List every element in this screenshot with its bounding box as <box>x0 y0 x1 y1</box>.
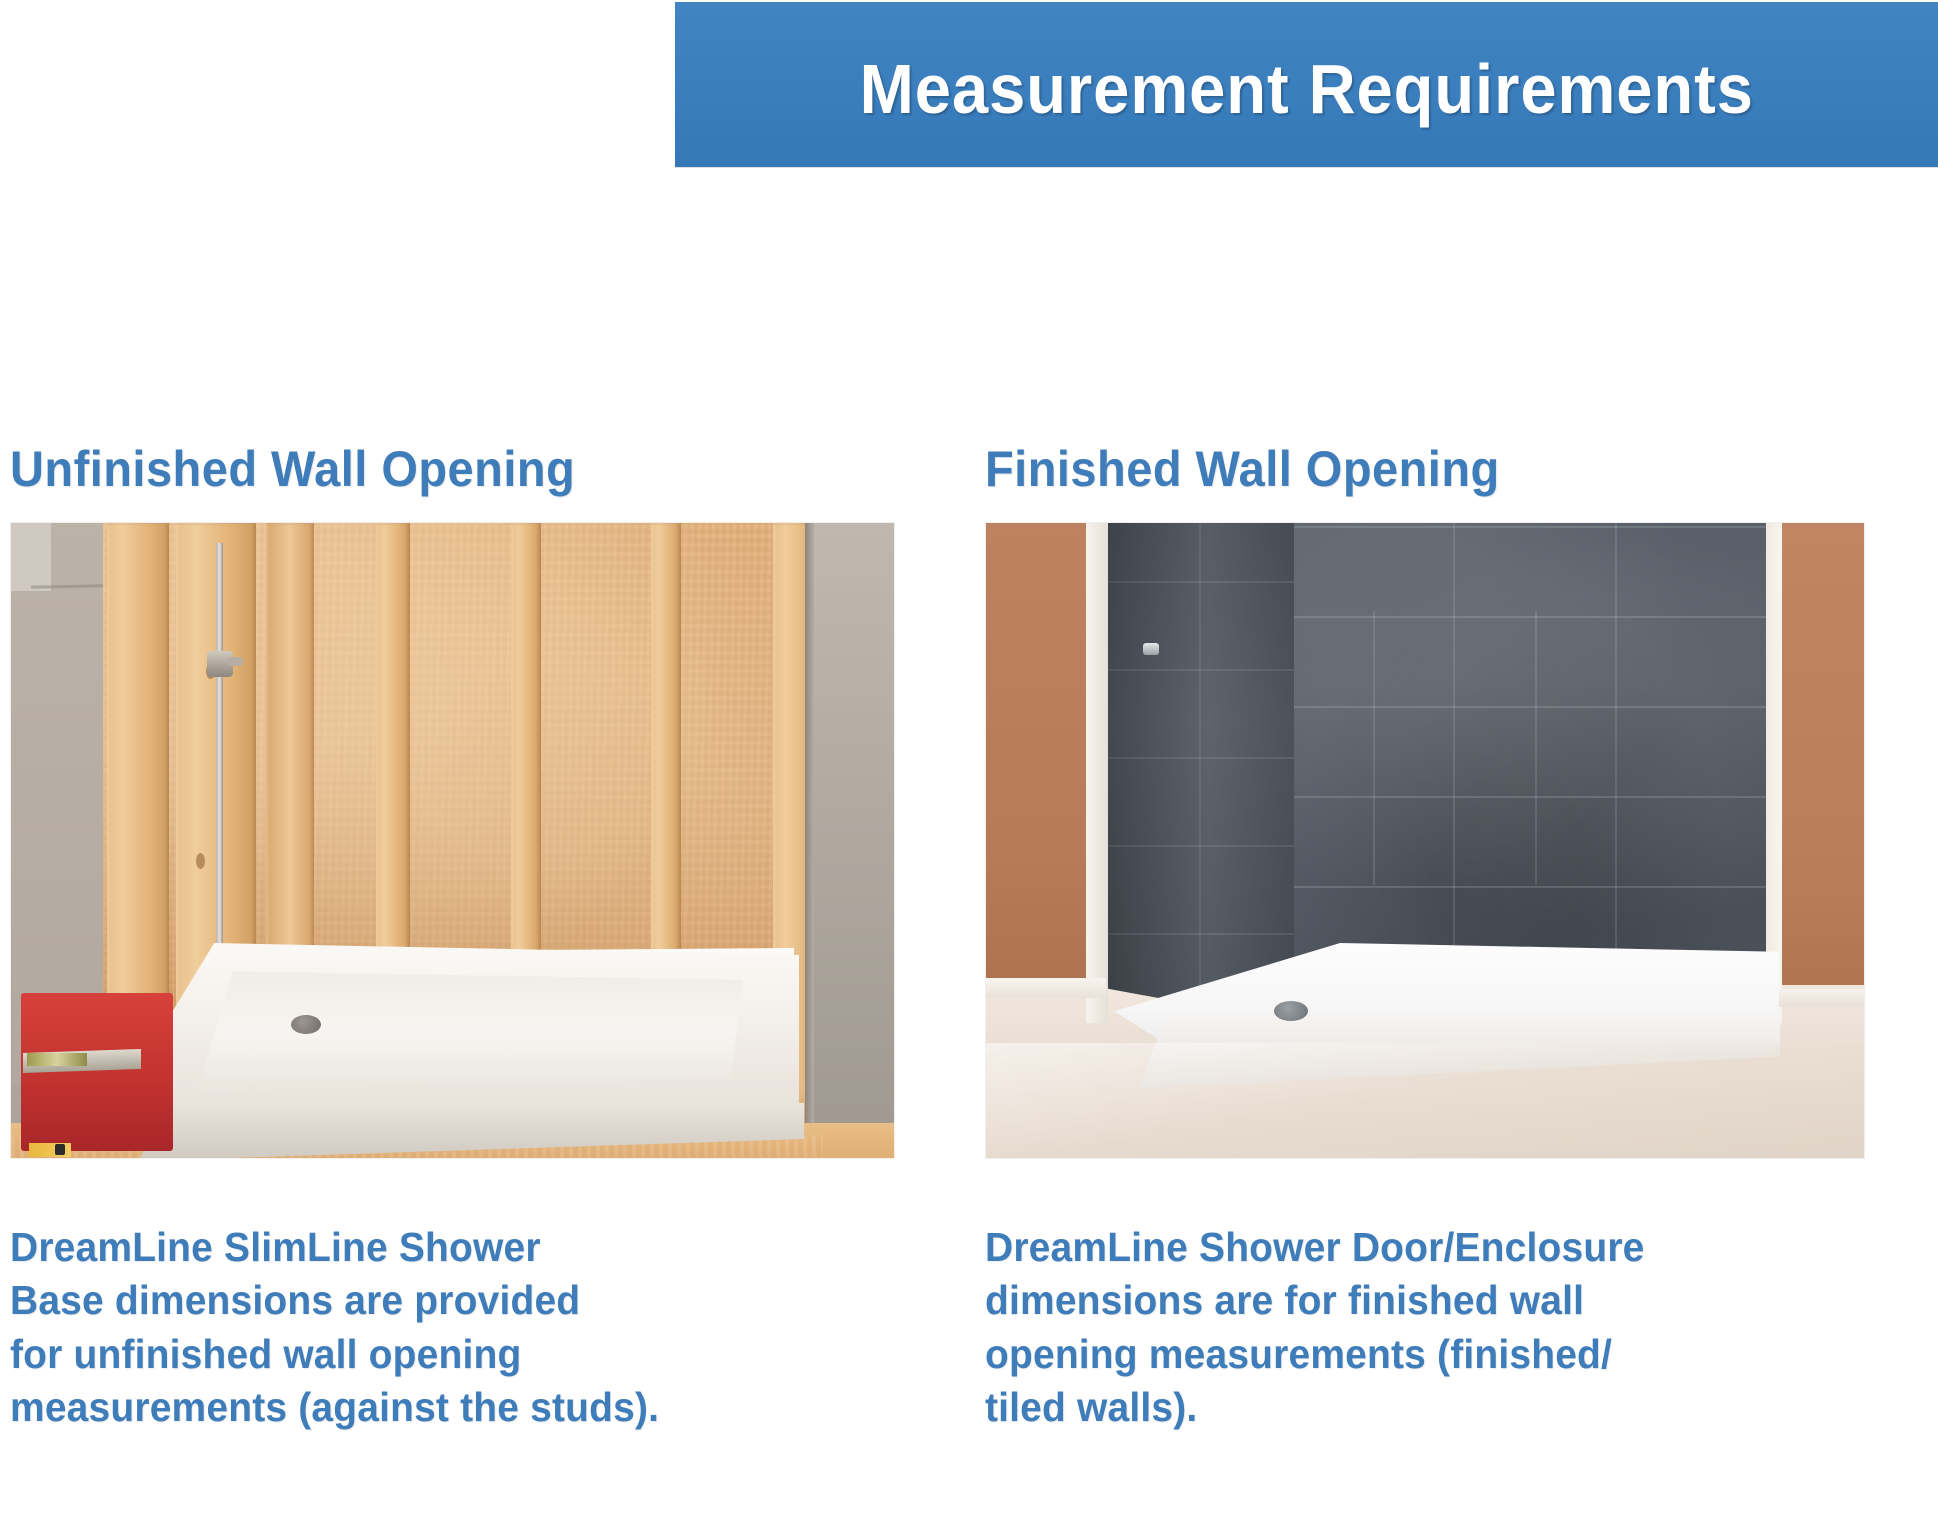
section-heading-finished: Finished Wall Opening <box>985 440 1831 498</box>
caption-finished: DreamLine Shower Door/Enclosure dimensio… <box>985 1221 1840 1434</box>
drain-icon <box>1274 1001 1308 1021</box>
drywall-right <box>811 523 895 1159</box>
wood-knot <box>196 853 205 869</box>
slide-root: Measurement Requirements Unfinished Wall… <box>0 0 1938 1540</box>
drain-icon <box>291 1015 321 1034</box>
shower-nozzle-icon <box>1143 643 1159 655</box>
wall-trim-left <box>1086 523 1108 1023</box>
section-heading-unfinished: Unfinished Wall Opening <box>10 440 856 498</box>
header-banner: Measurement Requirements <box>675 2 1938 167</box>
drywall-right-edge <box>805 523 814 1159</box>
column-finished: Finished Wall Opening DreamLine Shower D… <box>985 440 1885 1434</box>
toolbox-label <box>27 1053 87 1066</box>
baseboard-left <box>986 978 1106 998</box>
pipe-fitting <box>229 657 243 666</box>
photo-unfinished-wall-opening <box>10 522 895 1159</box>
drywall-left-upper <box>11 523 51 591</box>
caption-unfinished: DreamLine SlimLine Shower Base dimension… <box>10 1221 865 1434</box>
column-unfinished: Unfinished Wall Opening <box>10 440 910 1434</box>
page-title: Measurement Requirements <box>859 41 1753 129</box>
side-wall-shading <box>1104 523 1294 1023</box>
floor-reflection <box>986 1043 1865 1159</box>
wall-trim-right <box>1766 523 1782 1023</box>
painted-wall-right <box>1776 523 1865 1001</box>
painted-wall-left <box>986 523 1091 993</box>
photo-finished-wall-opening <box>985 522 1865 1159</box>
level-tool-end <box>55 1144 65 1155</box>
